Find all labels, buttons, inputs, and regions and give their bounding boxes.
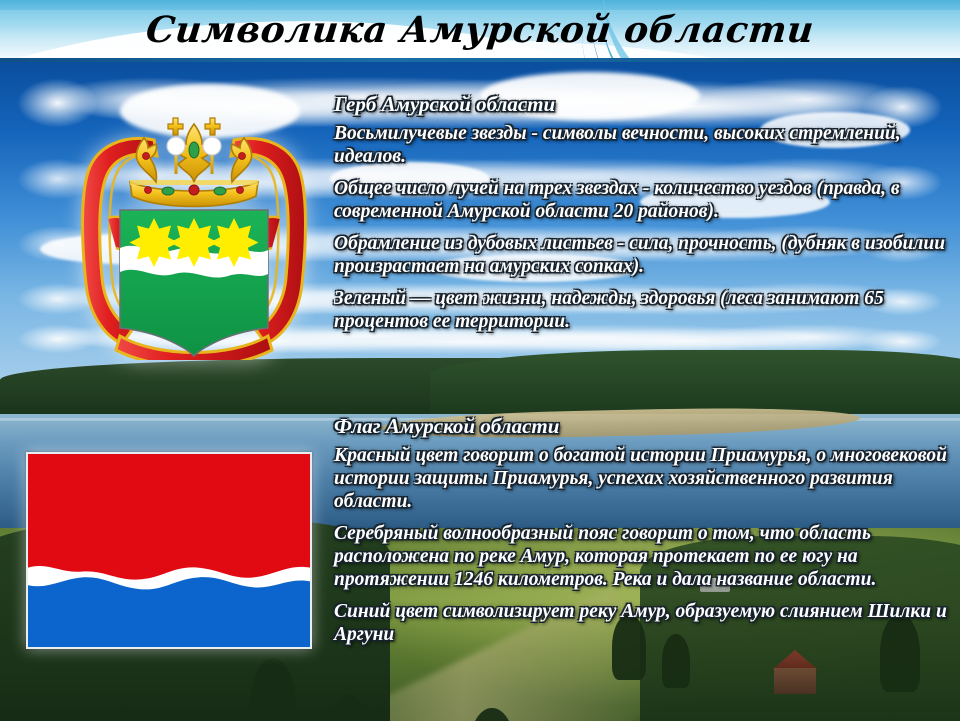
flag-paragraph-1: Красный цвет говорит о богатой истории П… xyxy=(334,444,956,513)
wooden-house xyxy=(766,650,824,694)
header-bottom-rule xyxy=(0,58,960,62)
page-title: Символика Амурской области xyxy=(0,2,960,58)
emblem-paragraph-3: Обрамление из дубовых листьев - сила, пр… xyxy=(334,232,954,278)
flag-paragraph-2: Серебряный волнообразный пояс говорит о … xyxy=(334,522,956,591)
crown xyxy=(130,118,258,207)
flag-paragraph-3: Синий цвет символизирует реку Амур, обра… xyxy=(334,600,956,646)
flag-text-column: Флаг Амурской области Красный цвет говор… xyxy=(334,414,956,646)
flag-of-amur-oblast xyxy=(26,452,312,649)
house-roof xyxy=(766,650,824,670)
emblem-paragraph-2: Общее число лучей на трех звездах - коли… xyxy=(334,177,954,223)
shield xyxy=(120,210,268,356)
emblem-paragraph-1: Восьмилучевые звезды - символы вечности,… xyxy=(334,122,954,168)
header-banner: Символика Амурской области xyxy=(0,0,960,62)
emblem-paragraph-4: Зеленый — цвет жизни, надежды, здоровья … xyxy=(334,287,954,333)
flag-heading: Флаг Амурской области xyxy=(334,414,956,438)
emblem-text-column: Герб Амурской области Восьмилучевые звез… xyxy=(334,92,954,333)
slide-root: Символика Амурской области xyxy=(0,0,960,721)
coat-of-arms xyxy=(58,98,330,360)
emblem-heading: Герб Амурской области xyxy=(334,92,954,116)
house-body xyxy=(774,668,816,694)
